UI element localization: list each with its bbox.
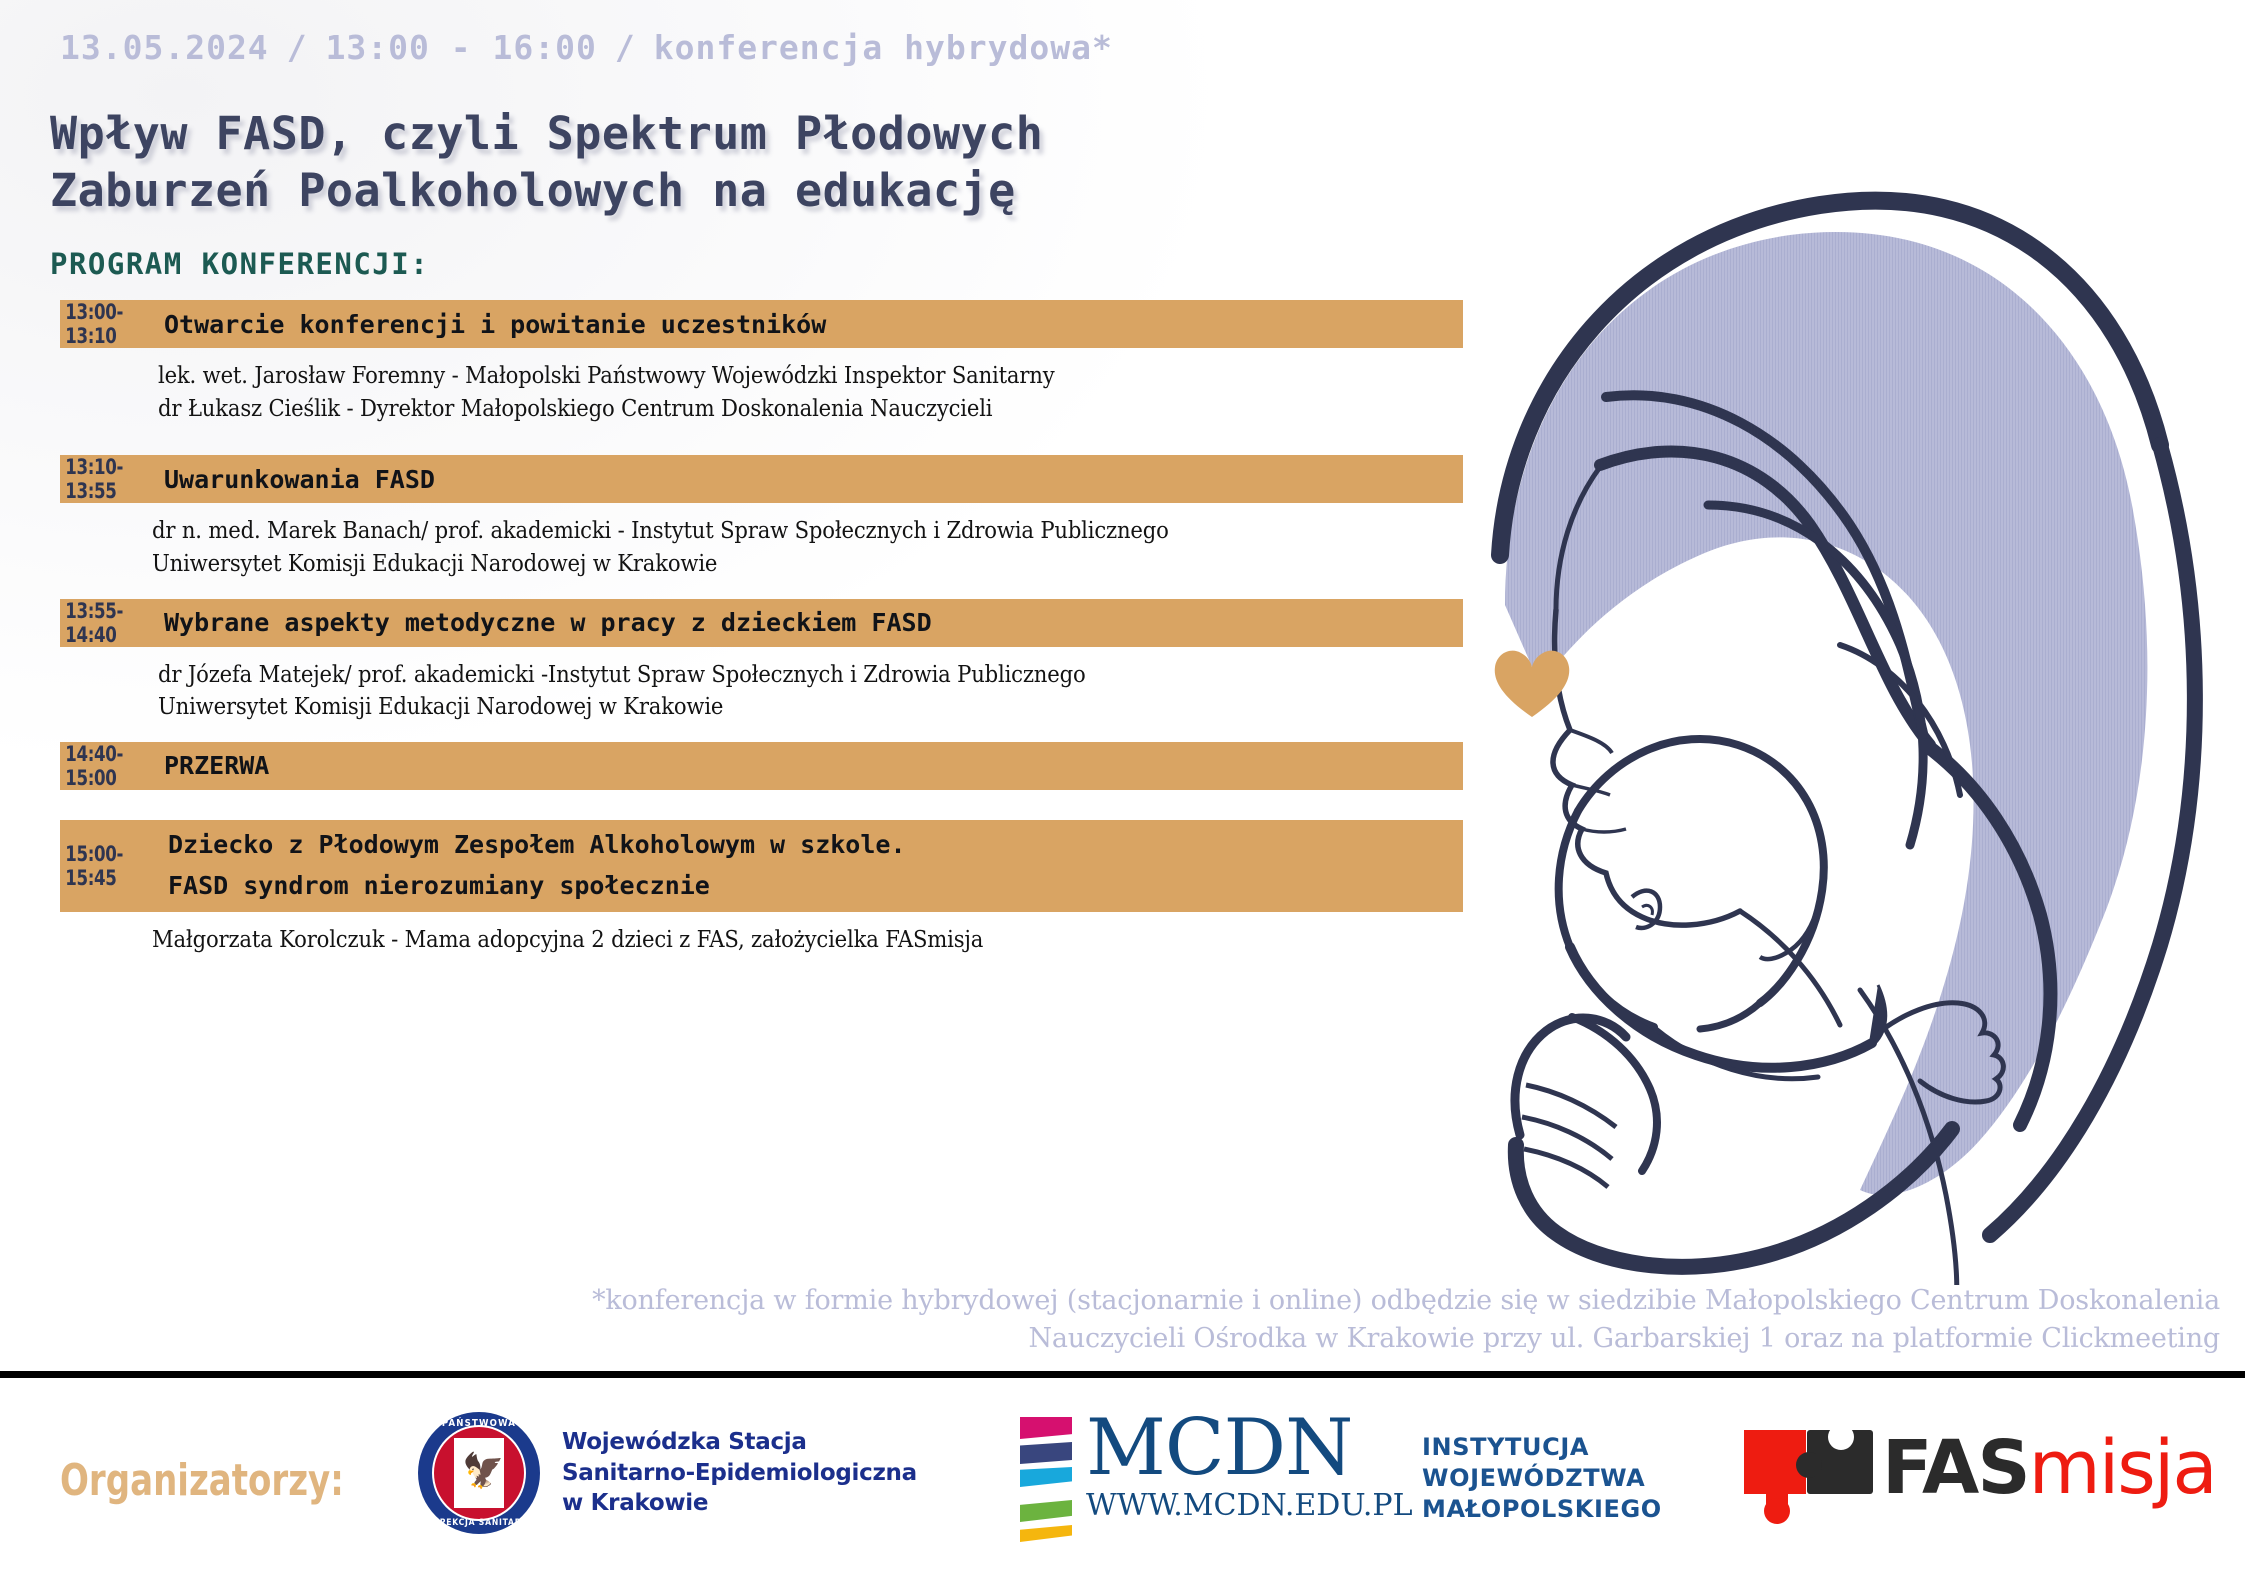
program-desc-1-line-1: lek. wet. Jarosław Foremny - Małopolski …: [158, 360, 1365, 393]
program-item-2: 13:10-13:55 Uwarunkowania FASD dr n. med…: [0, 455, 1470, 580]
puzzle-pieces-icon: [1744, 1422, 1876, 1514]
program-time-3: 13:55-14:40: [60, 599, 141, 647]
mcdn-url: WWW.MCDN.EDU.PL: [1086, 1488, 1413, 1523]
program-time-1: 13:00-13:10: [60, 300, 141, 348]
sanitary-inspection-seal-icon: PAŃSTWOWA 🦅 INSPEKCJA SANITARNA: [418, 1412, 540, 1534]
program-desc-1-line-2: dr Łukasz Cieślik - Dyrektor Małopolskie…: [158, 393, 1365, 426]
program-time-5: 15:00-15:45: [60, 842, 141, 890]
mcdn-logo: MCDN WWW.MCDN.EDU.PL: [1020, 1413, 1413, 1542]
wsse-name: Wojewódzka Stacja Sanitarno-Epidemiologi…: [562, 1427, 917, 1519]
mcdn-inst-line-3: MAŁOPOLSKIEGO: [1422, 1494, 1662, 1525]
program-bar-5: 15:00-15:45 Dziecko z Płodowym Zespołem …: [60, 820, 1463, 912]
program-bar-2: 13:10-13:55 Uwarunkowania FASD: [60, 455, 1463, 503]
program-title-5-line-2: FASD syndrom nierozumiany społecznie: [168, 871, 710, 900]
meta-separator-2: /: [597, 28, 654, 67]
mcdn-wordmark: MCDN: [1086, 1413, 1413, 1485]
program-title-5: Dziecko z Płodowym Zespołem Alkoholowym …: [152, 825, 906, 906]
wsse-logo: PAŃSTWOWA 🦅 INSPEKCJA SANITARNA Wojewódz…: [418, 1412, 917, 1534]
mcdn-inst-line-1: INSTYTUCJA: [1422, 1432, 1662, 1463]
mcdn-mark-pink: [1020, 1417, 1072, 1439]
mother-and-baby-illustration: [1460, 85, 2245, 1285]
spacer-4: [0, 790, 1470, 820]
heart-icon: [1493, 645, 1571, 719]
program-desc-1: lek. wet. Jarosław Foremny - Małopolski …: [158, 348, 1365, 425]
mcdn-mark-cyan: [1020, 1467, 1072, 1487]
program-bar-4: 14:40-15:00 PRZERWA: [60, 742, 1463, 790]
page-title-line-2: Zaburzeń Poalkoholowych na edukację: [50, 162, 1380, 219]
wsse-name-line-2: Sanitarno-Epidemiologiczna: [562, 1458, 917, 1489]
mcdn-mark-yellow: [1020, 1525, 1072, 1542]
spacer-1: [0, 425, 1470, 455]
event-meta-line: 13.05.2024/13:00 - 16:00/konferencja hyb…: [60, 28, 1113, 67]
program-title-1: Otwarcie konferencji i powitanie uczestn…: [152, 310, 826, 339]
mcdn-text-block: MCDN WWW.MCDN.EDU.PL: [1086, 1413, 1413, 1523]
mcdn-mark-green: [1020, 1500, 1072, 1522]
program-section-label: PROGRAM KONFERENCJI:: [50, 247, 429, 281]
program-desc-2-line-2: Uniwersytet Komisji Edukacji Narodowej w…: [152, 548, 1365, 581]
mcdn-inst-line-2: WOJEWÓDZTWA: [1422, 1463, 1662, 1494]
program-title-3: Wybrane aspekty metodyczne w pracy z dzi…: [152, 608, 932, 637]
program-item-1: 13:00-13:10 Otwarcie konferencji i powit…: [0, 300, 1470, 425]
program-desc-3-line-2: Uniwersytet Komisji Edukacji Narodowej w…: [158, 691, 1365, 724]
mcdn-chevron-marks-icon: [1020, 1413, 1072, 1542]
footnote: *konferencja w formie hybrydowej (stacjo…: [330, 1282, 2220, 1359]
program-desc-2: dr n. med. Marek Banach/ prof. akademick…: [152, 503, 1365, 580]
program-desc-5-line-1: Małgorzata Korolczuk - Mama adopcyjna 2 …: [152, 924, 1365, 957]
wsse-name-line-1: Wojewódzka Stacja: [562, 1427, 917, 1458]
program-title-2: Uwarunkowania FASD: [152, 465, 435, 494]
event-format: konferencja hybrydowa*: [654, 28, 1113, 67]
fasmisja-wordmark: FASmisja: [1882, 1431, 2216, 1505]
mcdn-mark-navy: [1020, 1442, 1072, 1464]
conference-poster: 13.05.2024/13:00 - 16:00/konferencja hyb…: [0, 0, 2245, 1587]
wsse-name-line-3: w Krakowie: [562, 1488, 917, 1519]
fasmisja-logo: FASmisja: [1744, 1422, 2216, 1514]
program-title-5-line-1: Dziecko z Płodowym Zespołem Alkoholowym …: [168, 830, 906, 859]
page-title-line-1: Wpływ FASD, czyli Spektrum Płodowych: [50, 105, 1380, 162]
eagle-icon: 🦅: [462, 1448, 496, 1494]
meta-separator-1: /: [269, 28, 326, 67]
program-bar-3: 13:55-14:40 Wybrane aspekty metodyczne w…: [60, 599, 1463, 647]
fasmisja-part-misja: misja: [2029, 1425, 2216, 1511]
seal-bottom-text: INSPEKCJA SANITARNA: [418, 1518, 540, 1528]
footer-divider: [0, 1371, 2245, 1378]
program-item-5: 15:00-15:45 Dziecko z Płodowym Zespołem …: [0, 820, 1470, 957]
program-bar-1: 13:00-13:10 Otwarcie konferencji i powit…: [60, 300, 1463, 348]
program-desc-2-line-1: dr n. med. Marek Banach/ prof. akademick…: [152, 515, 1365, 548]
puzzle-knob: [1796, 1452, 1822, 1478]
footnote-line-1: *konferencja w formie hybrydowej (stacjo…: [330, 1282, 2220, 1320]
program-time-2: 13:10-13:55: [60, 455, 141, 503]
droplet-ball: [1764, 1498, 1790, 1524]
puzzle-notch: [1828, 1424, 1854, 1450]
program-list: 13:00-13:10 Otwarcie konferencji i powit…: [0, 300, 1470, 957]
program-title-4: PRZERWA: [152, 751, 269, 780]
organizers-label: Organizatorzy:: [60, 1455, 344, 1506]
program-desc-5: Małgorzata Korolczuk - Mama adopcyjna 2 …: [152, 912, 1365, 957]
event-time: 13:00 - 16:00: [326, 28, 597, 67]
spacer-2: [0, 581, 1470, 599]
page-title: Wpływ FASD, czyli Spektrum Płodowych Zab…: [50, 105, 1380, 219]
event-date: 13.05.2024: [60, 28, 269, 67]
mcdn-institution-text: INSTYTUCJA WOJEWÓDZTWA MAŁOPOLSKIEGO: [1422, 1432, 1662, 1526]
footnote-line-2: Nauczycieli Ośrodka w Krakowie przy ul. …: [330, 1320, 2220, 1358]
program-time-4: 14:40-15:00: [60, 742, 141, 790]
program-item-3: 13:55-14:40 Wybrane aspekty metodyczne w…: [0, 599, 1470, 724]
fasmisja-part-fas: FAS: [1882, 1425, 2029, 1511]
spacer-3: [0, 724, 1470, 742]
program-item-4: 14:40-15:00 PRZERWA: [0, 742, 1470, 790]
program-desc-3-line-1: dr Józefa Matejek/ prof. akademicki -Ins…: [158, 659, 1365, 692]
program-desc-3: dr Józefa Matejek/ prof. akademicki -Ins…: [158, 647, 1365, 724]
